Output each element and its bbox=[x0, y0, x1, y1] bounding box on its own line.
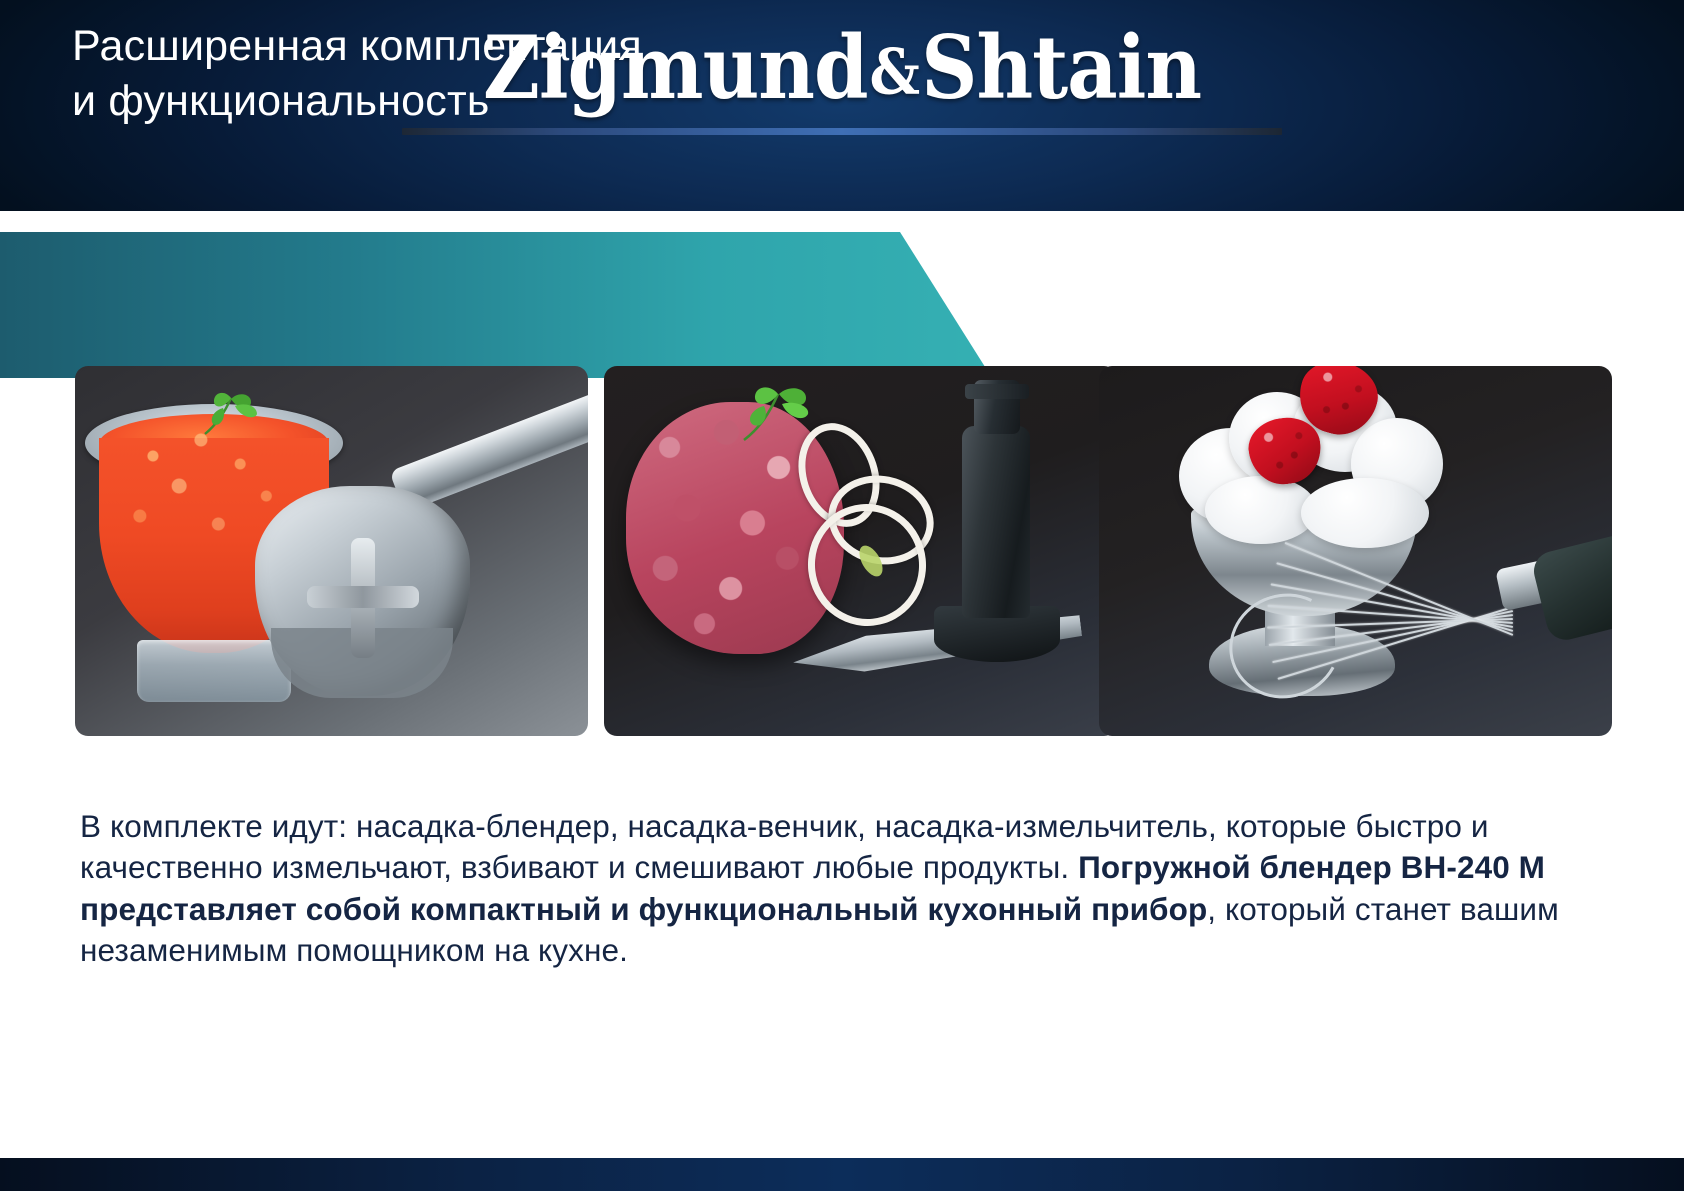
description-paragraph: В комплекте идут: насадка-блендер, насад… bbox=[80, 806, 1620, 971]
photo-background bbox=[75, 366, 588, 736]
chopper-coupling-cap bbox=[974, 380, 1020, 434]
glass-foot bbox=[137, 640, 291, 702]
gallery-card-blender[interactable] bbox=[75, 366, 588, 736]
photo-gallery bbox=[0, 0, 1684, 1191]
gallery-card-whisk[interactable] bbox=[1099, 366, 1612, 736]
slide-root: Zigmund&Shtain Расширенная комплектация … bbox=[0, 0, 1684, 1191]
photo-background bbox=[604, 366, 1117, 736]
blender-blade bbox=[307, 538, 419, 658]
parsley-garnish-icon bbox=[195, 390, 273, 436]
whisk-wires bbox=[1267, 554, 1517, 690]
footer-bar bbox=[0, 1158, 1684, 1191]
photo-background bbox=[1099, 366, 1612, 736]
whisk-handle bbox=[1530, 530, 1612, 644]
chopper-post bbox=[962, 426, 1030, 618]
gallery-card-chopper[interactable] bbox=[604, 366, 1117, 736]
description-line-1: В комплекте идут: насадка-блендер, насад… bbox=[80, 808, 1347, 844]
